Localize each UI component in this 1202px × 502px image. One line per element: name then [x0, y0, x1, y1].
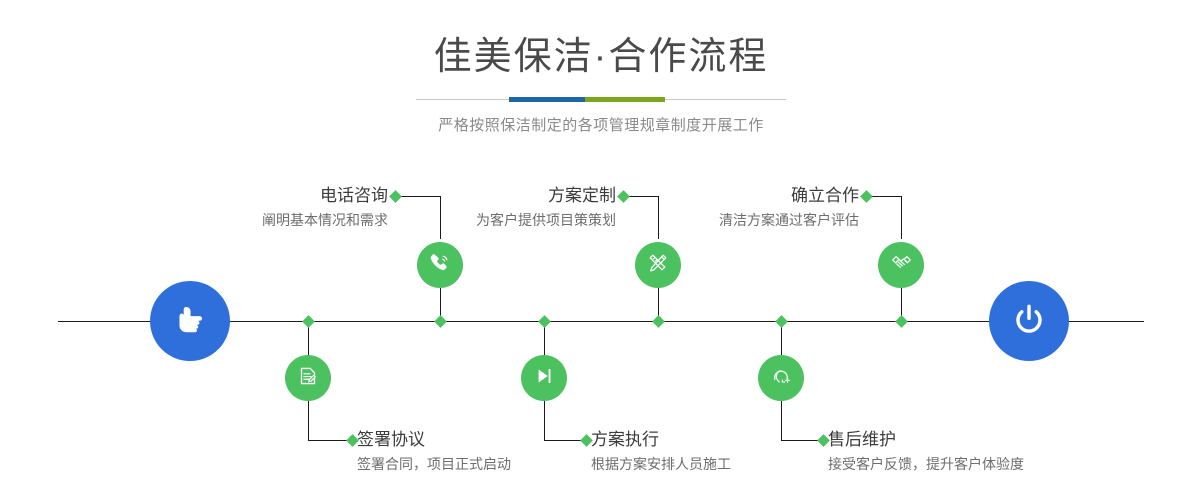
step-desc-step-1: 阐明基本情况和需求 [145, 209, 388, 231]
pointing-hand-icon [168, 297, 212, 346]
step-title-step-4: 方案执行 [591, 428, 851, 452]
step-desc-step-6: 接受客户反馈，提升客户体验度 [828, 453, 1108, 475]
step-desc-step-3: 为客户提供项目策策划 [380, 209, 616, 231]
step-icon-bubble-step-6[interactable] [758, 355, 804, 401]
step-title-step-6: 售后维护 [828, 428, 1108, 452]
step-icon-bubble-step-4[interactable] [521, 355, 567, 401]
step-desc-step-4: 根据方案安排人员施工 [591, 453, 851, 475]
power-icon [1007, 297, 1051, 346]
step-title-step-3: 方案定制 [380, 184, 616, 208]
document-edit-icon [295, 363, 321, 394]
connector-stem-step-5 [901, 196, 902, 239]
page-title: 佳美保洁·合作流程 [0, 34, 1202, 80]
phone-call-icon [427, 250, 453, 281]
pencil-ruler-icon [645, 250, 671, 281]
page-header: 佳美保洁·合作流程 严格按照保洁制定的各项管理规章制度开展工作 [0, 34, 1202, 137]
step-label-step-4: 方案执行 根据方案安排人员施工 [591, 428, 851, 475]
step-label-step-2: 签署协议 签署合同，项目正式启动 [357, 428, 617, 475]
flow-end-node [989, 281, 1069, 361]
page-subtitle: 严格按照保洁制定的各项管理规章制度开展工作 [0, 115, 1202, 137]
step-title-step-2: 签署协议 [357, 428, 617, 452]
marker-diamond-step-6-axis [775, 315, 788, 328]
divider-segment-blue [509, 97, 585, 102]
play-skip-icon [531, 363, 557, 394]
marker-diamond-step-4-axis [538, 315, 551, 328]
marker-diamond-step-3-axis [652, 315, 665, 328]
divider-segment-green [585, 97, 665, 102]
step-title-step-5: 确立合作 [625, 184, 859, 208]
customer-support-add-icon [768, 363, 794, 394]
title-divider [416, 94, 786, 106]
step-desc-step-5: 清洁方案通过客户评估 [625, 209, 859, 231]
step-desc-step-2: 签署合同，项目正式启动 [357, 453, 617, 475]
marker-diamond-step-5-axis [895, 315, 908, 328]
process-flow-infographic: 佳美保洁·合作流程 严格按照保洁制定的各项管理规章制度开展工作 [0, 0, 1202, 502]
flow-start-node [150, 281, 230, 361]
step-icon-bubble-step-3[interactable] [635, 242, 681, 288]
step-label-step-1: 电话咨询 阐明基本情况和需求 [145, 184, 388, 231]
step-label-step-6: 售后维护 接受客户反馈，提升客户体验度 [828, 428, 1108, 475]
marker-diamond-step-2-axis [302, 315, 315, 328]
handshake-icon [888, 249, 915, 281]
step-icon-bubble-step-5[interactable] [878, 242, 924, 288]
step-label-step-3: 方案定制 为客户提供项目策策划 [380, 184, 616, 231]
step-label-step-5: 确立合作 清洁方案通过客户评估 [625, 184, 859, 231]
step-icon-bubble-step-1[interactable] [417, 242, 463, 288]
connector-stem-lower-step-2 [308, 401, 309, 440]
marker-diamond-step-5-label [860, 190, 873, 203]
step-title-step-1: 电话咨询 [145, 184, 388, 208]
marker-diamond-step-1-axis [434, 315, 447, 328]
step-icon-bubble-step-2[interactable] [285, 355, 331, 401]
